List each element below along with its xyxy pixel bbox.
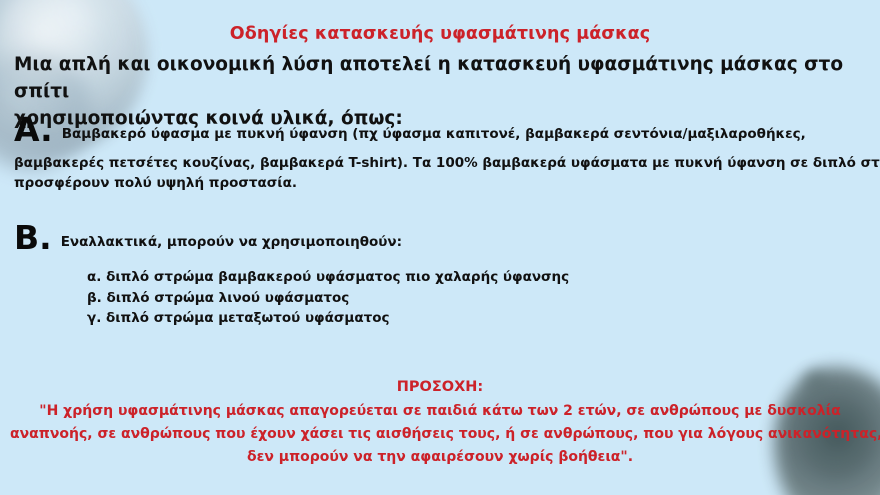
warning-line-3: δεν μπορούν να την αφαιρέσουν χωρίς βοήθ…: [10, 446, 870, 469]
section-b-sub-list: α. διπλό στρώμα βαμβακερού υφάσματος πιο…: [14, 267, 862, 329]
list-item: γ. διπλό στρώμα μεταξωτού υφάσματος: [87, 308, 862, 329]
section-a-body-line-2: προσφέρουν πολύ υψηλή προστασία.: [14, 173, 862, 193]
section-a-letter: A.: [14, 113, 53, 146]
warning-line-1: "Η χρήση υφασμάτινης μάσκας απαγορεύεται…: [10, 400, 870, 423]
slide-canvas: Οδηγίες κατασκευής υφασμάτινης μάσκας Μι…: [0, 0, 880, 495]
section-b-head: B.Εναλλακτικά, μπορούν να χρησιμοποιηθού…: [14, 221, 862, 254]
warning-line-2: αναπνοής, σε ανθρώπους που έχουν χάσει τ…: [10, 423, 870, 446]
section-a-heading: Βαμβακερό ύφασμα με πυκνή ύφανση (πχ ύφα…: [53, 126, 806, 142]
section-a-head: A.Βαμβακερό ύφασμα με πυκνή ύφανση (πχ ύ…: [14, 113, 862, 146]
section-b-letter: B.: [14, 221, 52, 254]
page-title: Οδηγίες κατασκευής υφασμάτινης μάσκας: [0, 24, 880, 44]
section-b: B.Εναλλακτικά, μπορούν να χρησιμοποιηθού…: [14, 221, 862, 329]
section-a-body-line-1: βαμβακερές πετσέτες κουζίνας, βαμβακερά …: [14, 153, 862, 173]
list-item: β. διπλό στρώμα λινού υφάσματος: [87, 288, 862, 309]
slide-content: Οδηγίες κατασκευής υφασμάτινης μάσκας Μι…: [0, 0, 880, 495]
section-b-heading: Εναλλακτικά, μπορούν να χρησιμοποιηθούν:: [52, 234, 402, 250]
intro-line-1: Μια απλή και οικονομική λύση αποτελεί η …: [14, 51, 860, 105]
warning-body: "Η χρήση υφασμάτινης μάσκας απαγορεύεται…: [10, 400, 870, 469]
section-a-body: βαμβακερές πετσέτες κουζίνας, βαμβακερά …: [14, 153, 862, 193]
list-item: α. διπλό στρώμα βαμβακερού υφάσματος πιο…: [87, 267, 862, 288]
warning-block: ΠΡΟΣΟΧΗ: "Η χρήση υφασμάτινης μάσκας απα…: [10, 379, 870, 469]
section-a: A.Βαμβακερό ύφασμα με πυκνή ύφανση (πχ ύ…: [14, 113, 862, 193]
warning-heading: ΠΡΟΣΟΧΗ:: [10, 379, 870, 395]
